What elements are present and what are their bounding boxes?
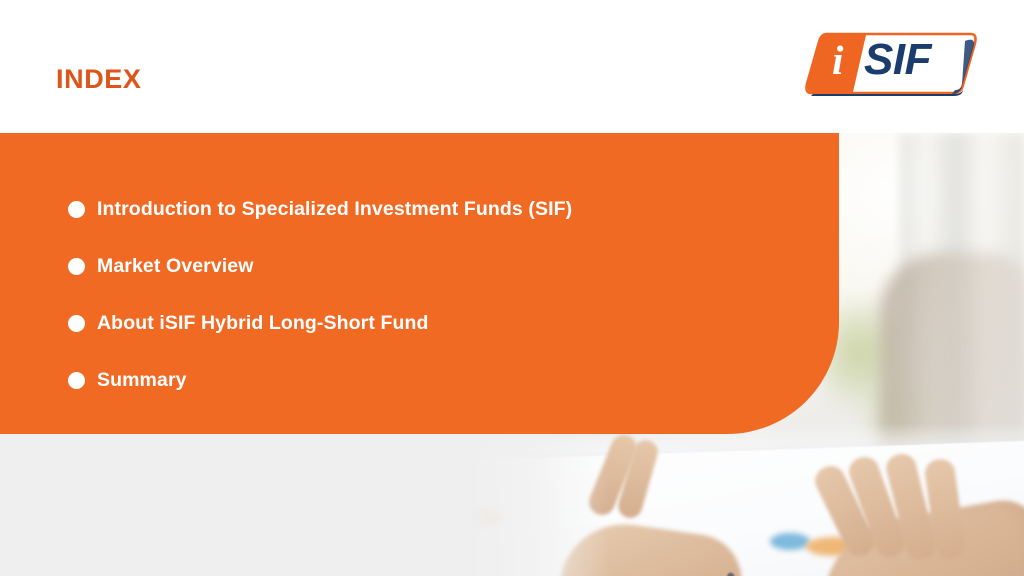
bullet-circle-icon — [68, 315, 85, 332]
index-item-label: Market Overview — [97, 255, 254, 278]
index-item-label: Summary — [97, 369, 187, 392]
index-item-about-fund[interactable]: About iSIF Hybrid Long-Short Fund — [68, 295, 768, 352]
bullet-circle-icon — [68, 258, 85, 275]
index-list: Introduction to Specialized Investment F… — [68, 181, 768, 409]
grey-base-block — [0, 434, 470, 576]
index-panel: Introduction to Specialized Investment F… — [0, 133, 839, 434]
index-item-label: Introduction to Specialized Investment F… — [97, 198, 572, 221]
grey-base-fade — [470, 434, 610, 576]
page-title: INDEX — [56, 64, 142, 95]
chart-mark — [770, 533, 810, 550]
logo-i-letter: i — [832, 40, 843, 81]
index-item-market-overview[interactable]: Market Overview — [68, 238, 768, 295]
bullet-circle-icon — [68, 201, 85, 218]
index-item-summary[interactable]: Summary — [68, 352, 768, 409]
index-item-introduction[interactable]: Introduction to Specialized Investment F… — [68, 181, 768, 238]
index-item-label: About iSIF Hybrid Long-Short Fund — [97, 312, 429, 335]
slide: INDEX i SIF Introduction to Specialized … — [0, 0, 1024, 576]
logo-wordmark: SIF — [864, 38, 931, 82]
bullet-circle-icon — [68, 372, 85, 389]
isif-logo[interactable]: i SIF — [805, 31, 977, 97]
